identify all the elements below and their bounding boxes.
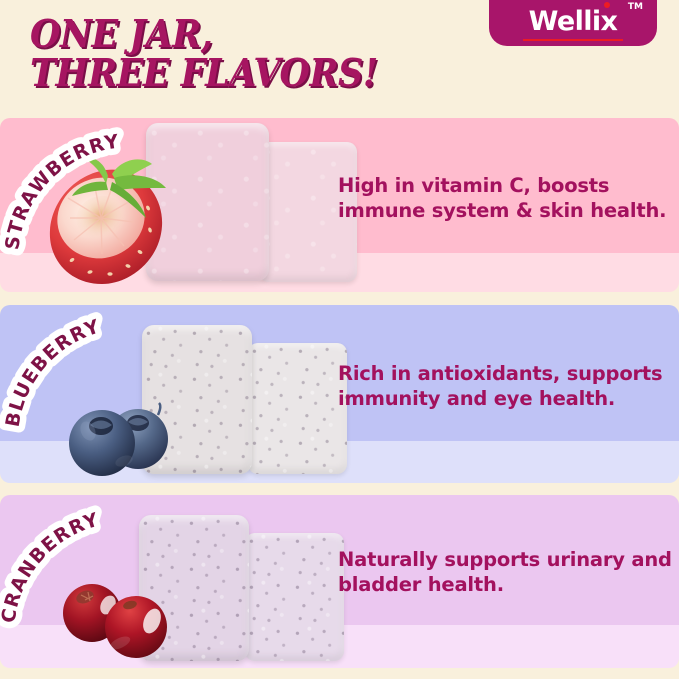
tablet-texture bbox=[248, 343, 347, 474]
tablet-texture bbox=[245, 533, 344, 661]
flavor-panel-blueberry: BLUEBERRY BLUEBERRY Rich in antioxidants… bbox=[0, 305, 679, 483]
cranberries-image bbox=[58, 581, 174, 661]
benefit-text-cranberry: Naturally supports urinary and bladder h… bbox=[338, 547, 672, 597]
flavor-panel-cranberry: CRANBERRY CRANBERRY Naturally supports u… bbox=[0, 495, 679, 668]
brand-logo: Wellix TM bbox=[489, 0, 657, 46]
strawberry-image bbox=[44, 156, 172, 288]
flavor-panel-strawberry: STRAWBERRY STRAWBERRY High in vitamin C,… bbox=[0, 118, 679, 292]
logo-dot-icon bbox=[604, 2, 610, 8]
benefit-text-blueberry: Rich in antioxidants, supports immunity … bbox=[338, 361, 662, 411]
logo-underline-icon bbox=[523, 39, 623, 41]
page-title: ONE JAR, THREE FLAVORS! bbox=[30, 14, 378, 92]
tablet-back bbox=[248, 343, 347, 474]
poster-canvas: ONE JAR, THREE FLAVORS! Wellix TM bbox=[0, 0, 679, 679]
benefit-text-strawberry: High in vitamin C, boosts immune system … bbox=[338, 173, 666, 223]
tablet-back bbox=[245, 533, 344, 661]
blueberries-image bbox=[66, 401, 176, 477]
trademark-symbol: TM bbox=[628, 2, 643, 12]
header: ONE JAR, THREE FLAVORS! Wellix TM bbox=[0, 0, 679, 118]
